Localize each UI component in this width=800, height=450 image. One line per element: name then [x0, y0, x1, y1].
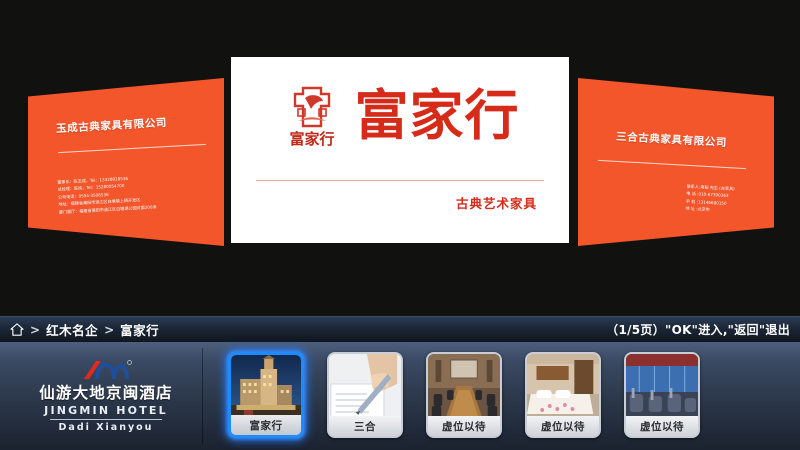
fujiahang-logo-icon: 富家行 — [281, 80, 343, 152]
breadcrumb-item-category[interactable]: 红木名企 — [46, 320, 98, 339]
hotel-location-label: Dadi Xianyou — [59, 422, 154, 433]
thumbnail-item-0[interactable]: 富家行 — [228, 352, 304, 438]
card-left-divider — [58, 144, 206, 153]
center-card-tagline: 古典艺术家具 — [456, 193, 537, 212]
tv-app-screen: 玉成古典家具有限公司 董事长：陈玉成，Tel：13328828536 总经理：陈… — [0, 0, 800, 450]
hotel-logo-divider — [50, 419, 162, 420]
home-icon[interactable] — [10, 323, 24, 336]
conference-room-image — [428, 354, 500, 420]
thumbnail-label-3: 虚位以待 — [527, 416, 599, 436]
breadcrumb-separator: > — [30, 323, 40, 337]
hotel-name-cn: 仙游大地京闽酒店 — [39, 381, 173, 403]
card-right-company-name: 三合古典家具有限公司 — [616, 129, 728, 150]
center-card-divider — [256, 180, 544, 181]
hotel-name-en: JINGMIN HOTEL — [44, 404, 168, 417]
svg-text:富家行: 富家行 — [289, 130, 334, 148]
page-hint-text: （1/5页）"OK"进入,"返回"退出 — [606, 321, 790, 338]
thumbnail-item-4[interactable]: 虚位以待 — [624, 352, 700, 438]
hand-writing-document-image — [329, 354, 401, 420]
jingmin-hotel-mark-icon — [80, 360, 132, 380]
business-card-left[interactable]: 玉成古典家具有限公司 董事长：陈玉成，Tel：13328828536 总经理：陈… — [28, 78, 224, 246]
fitness-gym-image — [626, 354, 698, 420]
card-right-inner: 三合古典家具有限公司 联系人:海韬 先生 (古家具) 电 话 :010-6739… — [578, 78, 774, 246]
thumbnail-strip: 富家行 三合 — [228, 352, 700, 438]
card-right-contact-details: 联系人:海韬 先生 (古家具) 电 话 :010-67390363 手 机 :1… — [685, 183, 735, 215]
status-bar: > 红木名企 > 富家行 （1/5页）"OK"进入,"返回"退出 — [0, 316, 800, 342]
thumbnail-label-1: 三合 — [329, 416, 401, 436]
hotel-bedroom-image — [527, 354, 599, 420]
card-right-divider — [598, 160, 746, 169]
breadcrumb-item-current[interactable]: 富家行 — [120, 320, 159, 339]
thumbnail-label-4: 虚位以待 — [626, 416, 698, 436]
content-stage: 玉成古典家具有限公司 董事长：陈玉成，Tel：13328828536 总经理：陈… — [0, 0, 800, 316]
thumbnail-label-0: 富家行 — [231, 415, 301, 435]
business-card-center[interactable]: 富家行 富家行 古典艺术家具 — [231, 57, 569, 243]
breadcrumb[interactable]: > 红木名企 > 富家行 — [10, 320, 159, 339]
panel-divider — [202, 348, 203, 444]
business-card-right[interactable]: 三合古典家具有限公司 联系人:海韬 先生 (古家具) 电 话 :010-6739… — [578, 78, 774, 246]
center-card-header: 富家行 富家行 — [231, 57, 569, 175]
thumbnail-item-2[interactable]: 虚位以待 — [426, 352, 502, 438]
center-card-brand-name: 富家行 — [355, 89, 520, 143]
thumbnail-item-3[interactable]: 虚位以待 — [525, 352, 601, 438]
hotel-logo: 仙游大地京闽酒店 JINGMIN HOTEL Dadi Xianyou — [18, 360, 194, 436]
card-left-contact-details: 董事长：陈玉成，Tel：13328828536 总经理：陈纯，Tel：15280… — [57, 173, 157, 216]
hotel-building-night-image — [231, 355, 301, 421]
thumbnail-item-1[interactable]: 三合 — [327, 352, 403, 438]
breadcrumb-separator: > — [104, 323, 114, 337]
thumbnail-label-2: 虚位以待 — [428, 416, 500, 436]
card-left-inner: 玉成古典家具有限公司 董事长：陈玉成，Tel：13328828536 总经理：陈… — [28, 78, 224, 246]
card-left-company-name: 玉成古典家具有限公司 — [56, 115, 168, 136]
